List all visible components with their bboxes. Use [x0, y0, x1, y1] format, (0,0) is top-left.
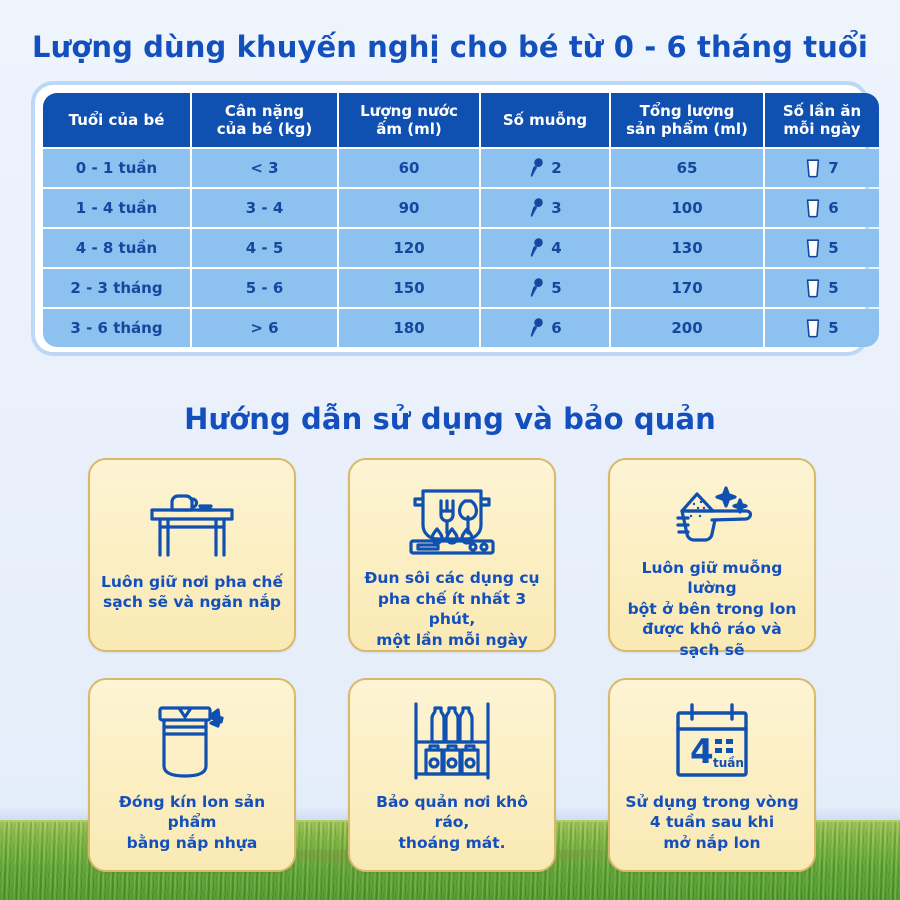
guide-card-label: Bảo quản nơi khô ráo, thoáng mát.: [350, 792, 554, 853]
cell-feeds-value: 5: [828, 279, 838, 297]
guide-card-keep-scoop-dry: Luôn giữ muỗng lường bột ở bên trong lon…: [608, 458, 816, 652]
table-row: 0 - 1 tuần< 3602657: [43, 149, 879, 187]
table-header-total: Tổng lượngsản phẩm (ml): [611, 93, 763, 147]
cell-scoops-value: 2: [551, 159, 561, 177]
cell-scoops-value: 5: [551, 279, 561, 297]
page-title-guide: Hướng dẫn sử dụng và bảo quản: [0, 402, 900, 436]
cell-weight: > 6: [192, 309, 337, 347]
cell-feeds: 5: [765, 229, 879, 267]
glass-icon: [805, 238, 821, 258]
cell-weight: 3 - 4: [192, 189, 337, 227]
cell-scoops-value: 3: [551, 199, 561, 217]
table-header-weight: Cân nặngcủa bé (kg): [192, 93, 337, 147]
guide-card-use-within-4-weeks: 4 tuần Sử dụng trong vòng 4 tuần sau khi…: [608, 678, 816, 872]
glass-icon: [805, 158, 821, 178]
cell-scoops: 3: [481, 189, 609, 227]
cell-scoops-value: 4: [551, 239, 561, 257]
guide-card-clean-area: Luôn giữ nơi pha chế sạch sẽ và ngăn nắp: [88, 458, 296, 652]
cell-age: 0 - 1 tuần: [43, 149, 190, 187]
cell-feeds: 5: [765, 309, 879, 347]
cell-water: 120: [339, 229, 479, 267]
cell-feeds-value: 5: [828, 239, 838, 257]
calendar-4-weeks-icon: 4 tuần: [670, 698, 754, 784]
cell-water: 90: [339, 189, 479, 227]
cell-water: 180: [339, 309, 479, 347]
cell-total: 170: [611, 269, 763, 307]
measuring-scoop-icon: [660, 478, 764, 550]
spoon-icon: [528, 158, 544, 178]
guide-card-label: Đun sôi các dụng cụ pha chế ít nhất 3 ph…: [350, 568, 554, 650]
cell-weight: 4 - 5: [192, 229, 337, 267]
dosage-table-panel: Tuổi của bé Cân nặngcủa bé (kg) Lượng nư…: [31, 81, 869, 356]
spoon-icon: [528, 198, 544, 218]
table-with-dishes-icon: [142, 478, 242, 564]
dosage-table: Tuổi của bé Cân nặngcủa bé (kg) Lượng nư…: [41, 91, 881, 349]
guide-card-label: Luôn giữ nơi pha chế sạch sẽ và ngăn nắp: [91, 572, 293, 613]
cell-weight: 5 - 6: [192, 269, 337, 307]
cell-feeds-value: 5: [828, 319, 838, 337]
spoon-icon: [528, 238, 544, 258]
cell-weight: < 3: [192, 149, 337, 187]
table-row: 3 - 6 tháng> 618062005: [43, 309, 879, 347]
glass-icon: [805, 278, 821, 298]
table-row: 2 - 3 tháng5 - 615051705: [43, 269, 879, 307]
cell-scoops-value: 6: [551, 319, 561, 337]
glass-icon: [805, 198, 821, 218]
cell-water: 150: [339, 269, 479, 307]
spoon-icon: [528, 318, 544, 338]
table-header-age: Tuổi của bé: [43, 93, 190, 147]
glass-icon: [805, 318, 821, 338]
table-header-scoops: Số muỗng: [481, 93, 609, 147]
cell-feeds: 6: [765, 189, 879, 227]
cell-feeds: 7: [765, 149, 879, 187]
cell-age: 2 - 3 tháng: [43, 269, 190, 307]
page-title-dosage: Lượng dùng khuyến nghị cho bé từ 0 - 6 t…: [0, 30, 900, 64]
cell-age: 4 - 8 tuần: [43, 229, 190, 267]
table-body: 0 - 1 tuần< 36026571 - 4 tuần3 - 4903100…: [43, 149, 879, 347]
cell-water: 60: [339, 149, 479, 187]
cell-age: 3 - 6 tháng: [43, 309, 190, 347]
guide-card-store-dry: Bảo quản nơi khô ráo, thoáng mát.: [348, 678, 556, 872]
table-row: 1 - 4 tuần3 - 49031006: [43, 189, 879, 227]
table-header-water: Lượng nướcấm (ml): [339, 93, 479, 147]
cell-age: 1 - 4 tuần: [43, 189, 190, 227]
boiling-pot-on-stove-icon: [401, 478, 503, 560]
guide-card-label: Sử dụng trong vòng 4 tuần sau khi mở nắp…: [615, 792, 808, 853]
spoon-icon: [528, 278, 544, 298]
table-header-row: Tuổi của bé Cân nặngcủa bé (kg) Lượng nư…: [43, 93, 879, 147]
cell-total: 200: [611, 309, 763, 347]
cell-total: 65: [611, 149, 763, 187]
table-header-feeds: Số lần ănmỗi ngày: [765, 93, 879, 147]
guide-card-label: Luôn giữ muỗng lường bột ở bên trong lon…: [610, 558, 814, 660]
cell-scoops: 2: [481, 149, 609, 187]
storage-shelf-icon: [408, 698, 496, 784]
calendar-number: 4: [690, 732, 714, 772]
cell-scoops: 6: [481, 309, 609, 347]
cell-total: 100: [611, 189, 763, 227]
calendar-unit: tuần: [713, 756, 744, 770]
guide-card-seal-can: Đóng kín lon sản phẩm bằng nắp nhựa: [88, 678, 296, 872]
cell-total: 130: [611, 229, 763, 267]
cell-scoops: 5: [481, 269, 609, 307]
table-row: 4 - 8 tuần4 - 512041305: [43, 229, 879, 267]
cell-scoops: 4: [481, 229, 609, 267]
cell-feeds: 5: [765, 269, 879, 307]
cell-feeds-value: 7: [828, 159, 838, 177]
guide-card-boil-utensils: Đun sôi các dụng cụ pha chế ít nhất 3 ph…: [348, 458, 556, 652]
cell-feeds-value: 6: [828, 199, 838, 217]
guide-card-label: Đóng kín lon sản phẩm bằng nắp nhựa: [90, 792, 294, 853]
sealed-can-icon: [146, 698, 238, 784]
